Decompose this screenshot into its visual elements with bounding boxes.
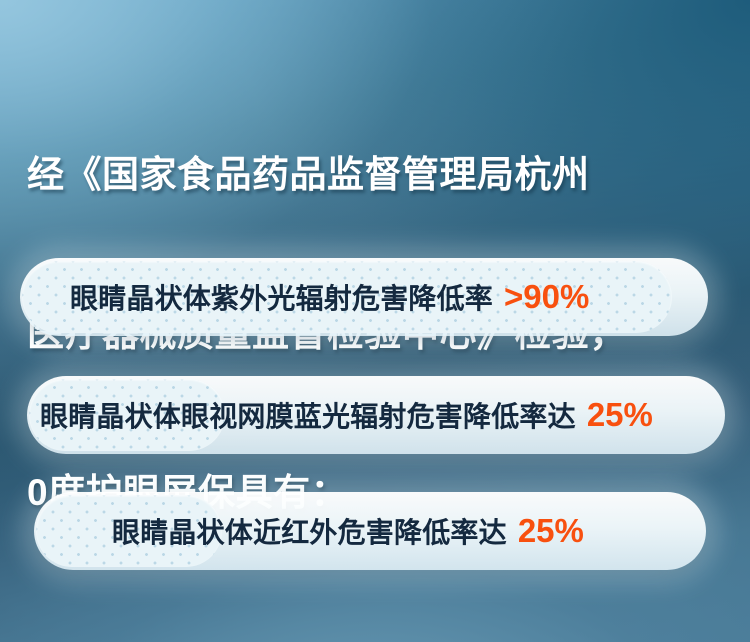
pill-text-row: 眼睛晶状体眼视网膜蓝光辐射危害降低率达 25% bbox=[40, 376, 653, 454]
pill-value: >90% bbox=[504, 278, 589, 316]
pill-text-row: 眼睛晶状体紫外光辐射危害降低率 >90% bbox=[70, 258, 589, 336]
poster-canvas: 经《国家食品药品监督管理局杭州 医疗器械质量监督检验中心》检验， 0度护眼屏保具… bbox=[0, 0, 750, 642]
headline-line-1: 经《国家食品药品监督管理局杭州 bbox=[27, 148, 727, 201]
pill-label: 眼睛晶状体紫外光辐射危害降低率 bbox=[70, 277, 493, 317]
benefit-pill-blue-light-reduction: 眼睛晶状体眼视网膜蓝光辐射危害降低率达 25% bbox=[0, 376, 750, 454]
benefit-pill-near-infrared-reduction: 眼睛晶状体近红外危害降低率达 25% bbox=[0, 492, 750, 570]
pill-value: 25% bbox=[518, 512, 584, 550]
benefit-pill-uv-reduction: 眼睛晶状体紫外光辐射危害降低率 >90% bbox=[0, 258, 750, 336]
pill-label: 眼睛晶状体近红外危害降低率达 bbox=[112, 511, 507, 551]
pill-value: 25% bbox=[587, 396, 653, 434]
pill-label: 眼睛晶状体眼视网膜蓝光辐射危害降低率达 bbox=[40, 395, 576, 435]
pill-text-row: 眼睛晶状体近红外危害降低率达 25% bbox=[112, 492, 584, 570]
